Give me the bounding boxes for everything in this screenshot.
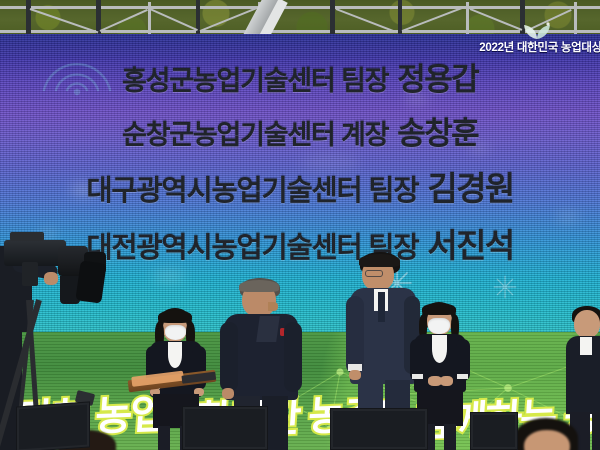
- award-line-org: 홍성군농업기술센터 팀장: [122, 59, 388, 98]
- stage-monitor-far-right: [470, 412, 518, 450]
- award-line-org: 대구광역시농업기술센터 팀장: [86, 168, 418, 209]
- award-lines-list: 홍성군농업기술센터 팀장 정용갑 순창군농업기술센터 계장 송창훈 대구광역시농…: [0, 54, 600, 267]
- stage-monitor-right: [330, 408, 428, 450]
- award-line-name: 김경원: [427, 162, 513, 210]
- face-mask: [428, 318, 450, 334]
- award-line-name: 송창훈: [397, 108, 478, 153]
- award-line: 홍성군농업기술센터 팀장 정용갑: [0, 54, 600, 99]
- award-line-name: 정용갑: [397, 54, 478, 99]
- award-line-org: 순창군농업기술센터 계장: [122, 113, 388, 152]
- eyeglasses-icon: [365, 270, 383, 277]
- award-line: 순창군농업기술센터 계장 송창훈: [0, 108, 600, 153]
- stage-monitor-left: [16, 401, 90, 450]
- award-line-name: 서진석: [427, 219, 513, 267]
- sparkle-icon: [492, 274, 518, 300]
- person-audience-foreground: [508, 418, 586, 450]
- stage-monitor-center: [182, 406, 268, 450]
- banner-header-text: 2022년 대한민국 농업대상: [479, 39, 600, 55]
- award-line: 대구광역시농업기술센터 팀장 김경원: [0, 162, 600, 210]
- photo-scene: 2022년 대한민국 농업대상 홍성군농업기술센터 팀장 정용갑 순창군농업기술…: [0, 0, 600, 450]
- face-mask: [165, 325, 186, 340]
